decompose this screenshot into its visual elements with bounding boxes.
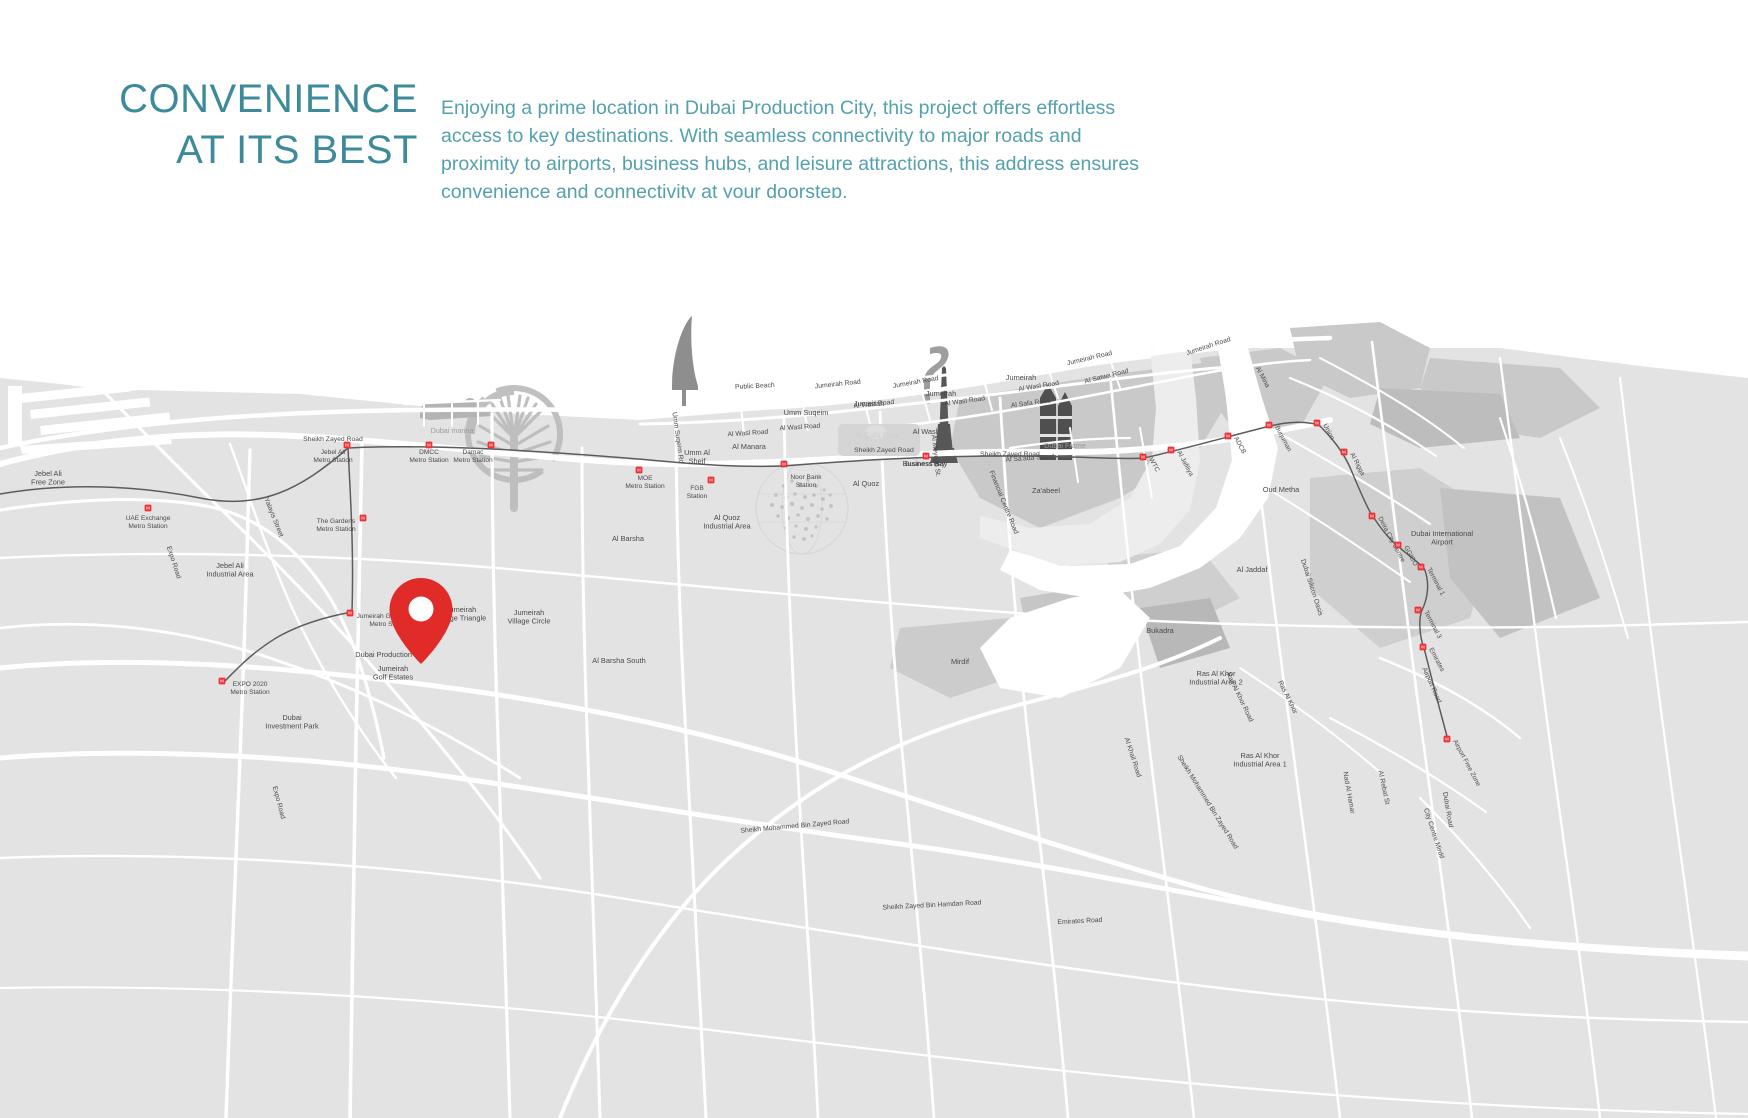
area-label-9: Industrial Area (703, 522, 751, 531)
station-label-5: MOE (637, 475, 653, 482)
station-label-7: Noor Bank (790, 474, 822, 481)
area-label-2: Investment Park (265, 722, 319, 731)
area-label-12: Umm Suqeim (784, 408, 829, 417)
map-canvas[interactable]: Jebel AliFree ZoneJebel AliIndustrial Ar… (0, 198, 1748, 1118)
station-label-8: Business Bay (905, 461, 946, 468)
metro-glyph: M (1141, 455, 1145, 460)
headline-line-2: AT ITS BEST (118, 125, 418, 176)
station-label-6: FGB (690, 485, 704, 492)
metro-glyph: M (220, 679, 224, 684)
station-label-1: Jebel Ali (321, 449, 346, 456)
area-label-20: Za'abeel (1032, 486, 1060, 495)
area-label-3: Golf Estates (373, 673, 414, 682)
metro-glyph: M (348, 611, 352, 616)
station-label-4: Metro Station (453, 457, 493, 464)
area-label-10: Sheif (689, 457, 707, 466)
area-label-17: Jumeirah (1006, 373, 1036, 382)
misc-label-1: Al Safa Park (855, 431, 900, 440)
station-label-3: Metro Station (409, 457, 449, 464)
road-label-1: Sheikh Zayed Road (854, 447, 914, 454)
station-label-5: Metro Station (625, 483, 665, 490)
area-label-25: Industrial Area 1 (1233, 760, 1286, 769)
area-label-22: Al Jaddaf (1237, 565, 1269, 574)
station-label-2: Metro Station (316, 526, 356, 533)
headline-line-1: CONVENIENCE (119, 77, 418, 121)
metro-glyph: M (637, 468, 641, 473)
area-label-7: Al Barsha (612, 534, 645, 543)
area-label-21: Oud Metha (1263, 485, 1300, 494)
metro-glyph: M (361, 516, 365, 521)
area-label-14: Al Quoz (853, 479, 880, 488)
area-label-16: Jumeirah (926, 389, 956, 398)
area-label-0: Free Zone (31, 478, 65, 487)
area-label-6: Village Circle (508, 617, 551, 626)
metro-glyph: M (489, 443, 493, 448)
station-label-7: Station (796, 482, 817, 489)
area-label-8: Al Barsha South (592, 656, 645, 665)
station-label-0: Metro Station (128, 523, 168, 530)
header: CONVENIENCE AT ITS BEST Enjoying a prime… (0, 0, 1748, 210)
area-label-23: Bukadra (1146, 626, 1174, 635)
station-label-3: DMCC (419, 449, 439, 456)
intro-paragraph: Enjoying a prime location in Dubai Produ… (441, 94, 1153, 207)
metro-glyph: M (1396, 543, 1400, 548)
metro-glyph: M (1421, 645, 1425, 650)
road-label-0: Sheikh Zayed Road (303, 436, 363, 443)
page-title: CONVENIENCE AT ITS BEST (118, 74, 418, 176)
area-label-11: Al Manara (732, 442, 767, 451)
metro-glyph: M (1315, 421, 1319, 426)
misc-label-0: Dubai marina (431, 426, 474, 435)
station-label-10: EXPO 2020 (233, 681, 268, 688)
area-label-1: Industrial Area (206, 570, 254, 579)
station-label-4: Damac (463, 449, 485, 456)
location-map[interactable]: Jebel AliFree ZoneJebel AliIndustrial Ar… (0, 198, 1748, 1118)
metro-glyph: M (146, 506, 150, 511)
misc-label-2: Dubai Frame (1044, 441, 1086, 450)
metro-glyph: M (427, 443, 431, 448)
area-label-27: Mirdif (951, 657, 970, 666)
metro-glyph: M (1226, 434, 1230, 439)
slide-root: CONVENIENCE AT ITS BEST Enjoying a prime… (0, 0, 1748, 1118)
metro-glyph: M (782, 462, 786, 467)
metro-glyph: M (1416, 608, 1420, 613)
station-label-10: Metro Station (230, 689, 270, 696)
area-label-26: Airport (1431, 538, 1453, 547)
metro-glyph: M (1267, 423, 1271, 428)
station-label-0: UAE Exchange (126, 515, 171, 522)
metro-glyph: M (1342, 450, 1346, 455)
metro-glyph: M (709, 478, 713, 483)
metro-glyph: M (1370, 514, 1374, 519)
metro-glyph: M (1419, 565, 1423, 570)
station-label-6: Station (687, 493, 708, 500)
station-label-2: The Gardens (317, 518, 356, 525)
metro-glyph: M (1445, 737, 1449, 742)
station-label-1: Metro Station (313, 457, 353, 464)
metro-glyph: M (1169, 448, 1173, 453)
metro-glyph: M (345, 443, 349, 448)
metro-glyph: M (924, 454, 928, 459)
